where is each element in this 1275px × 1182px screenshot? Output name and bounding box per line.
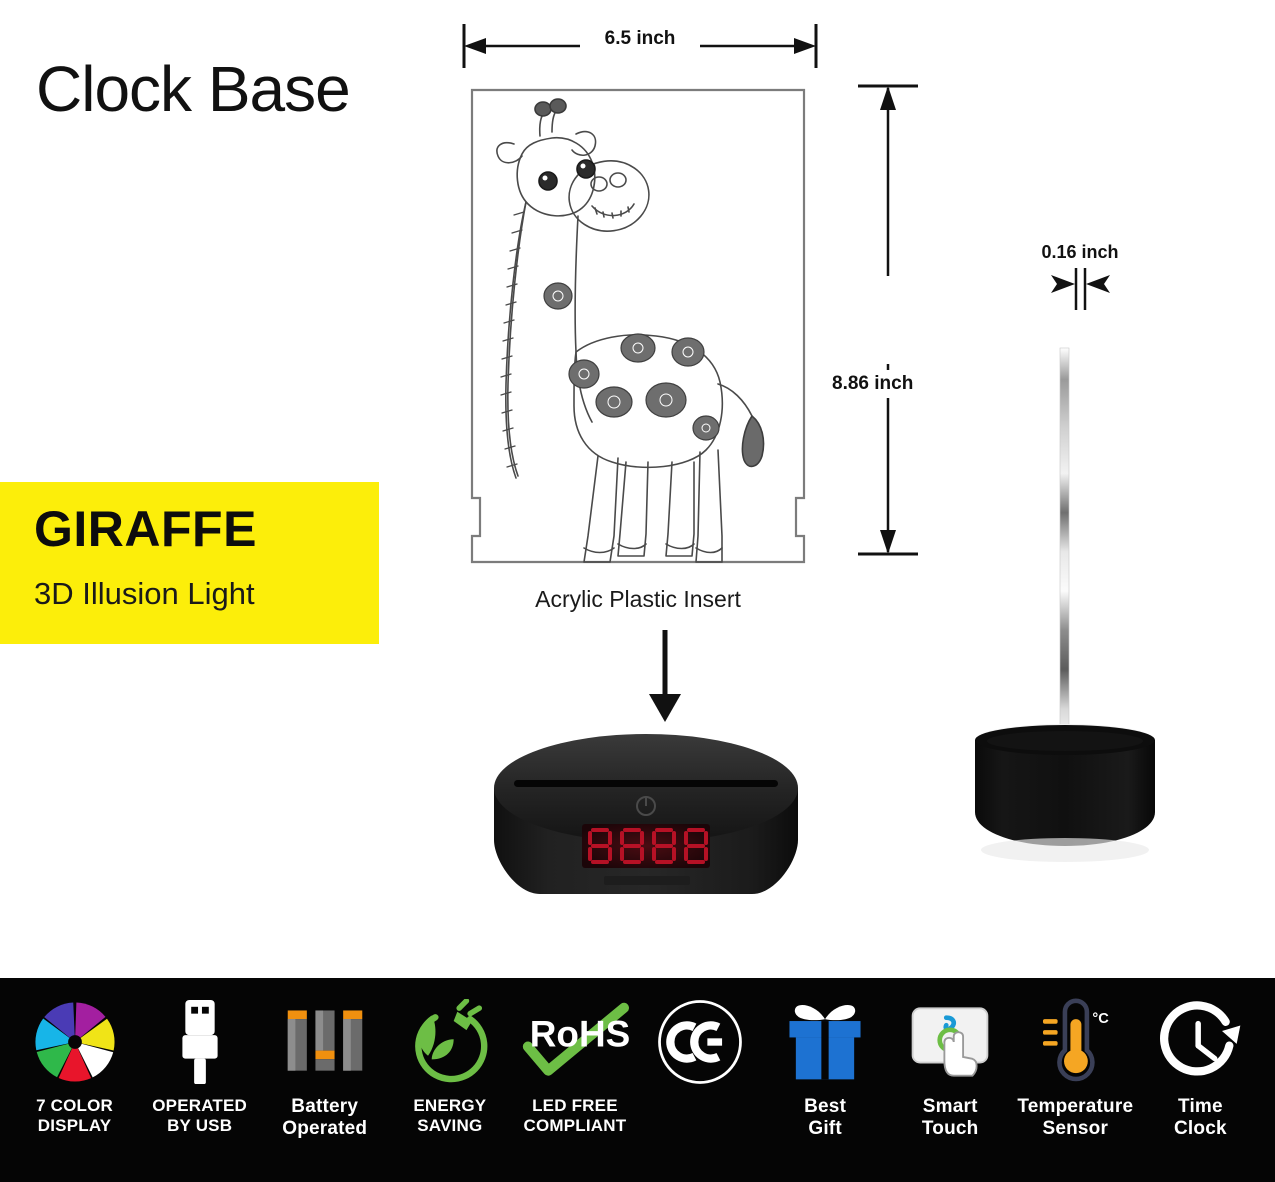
thickness-dimension: 0.16 inch [1015,242,1145,312]
height-dimension-arrow [840,80,950,560]
rohs-text: RoHS [530,1014,630,1055]
gift-box-icon [784,994,866,1090]
acrylic-panel-outline [466,84,810,568]
thermometer-icon: °C [1032,994,1118,1090]
feature-smart-touch: Smart Touch [888,994,1013,1182]
height-dimension-label: 8.86 inch [830,370,915,398]
ce-mark-icon [654,994,746,1090]
feature-label: Battery Operated [282,1096,367,1140]
feature-7-color-display: 7 COLOR DISPLAY [12,994,137,1182]
feature-temperature-sensor: °C Temperature Sensor [1013,994,1138,1182]
feature-ce-mark [637,994,762,1182]
feature-label: Best Gift [804,1096,846,1140]
feature-icons-bar: 7 COLOR DISPLAY OPERATED BY USB [0,978,1275,1182]
acrylic-insert-panel [466,84,810,568]
feature-time-clock: Time Clock [1138,994,1263,1182]
feature-label: Smart Touch [922,1096,979,1140]
badge-product-name: GIRAFFE [34,504,379,554]
feature-label: Temperature Sensor [1017,1096,1133,1140]
page-title: Clock Base [36,52,350,126]
clock-base-unit-front [476,722,816,912]
feature-label: Time Clock [1174,1096,1227,1140]
width-dimension: 6.5 inch [460,20,820,72]
height-dimension: 8.86 inch [840,80,950,560]
rohs-check-icon: RoHS [515,994,635,1090]
batteries-icon [282,994,368,1090]
product-infographic: Clock Base GIRAFFE 3D Illusion Light 6.5… [0,0,1275,1182]
clock-base-unit-side [960,330,1170,930]
down-arrow-icon [620,628,710,724]
badge-subtitle: 3D Illusion Light [34,576,379,612]
feature-label: OPERATED BY USB [152,1096,247,1135]
feature-rohs-compliant: RoHS LED FREE COMPLIANT [512,994,637,1182]
feature-energy-saving: ENERGY SAVING [387,994,512,1182]
width-dimension-label: 6.5 inch [580,28,700,50]
thickness-dimension-label: 0.16 inch [1015,242,1145,263]
feature-battery-operated: Battery Operated [262,994,387,1182]
celsius-text: °C [1093,1011,1110,1027]
feature-best-gift: Best Gift [763,994,888,1182]
feature-usb-operated: OPERATED BY USB [137,994,262,1182]
clock-arrow-icon [1154,994,1246,1090]
feature-label: 7 COLOR DISPLAY [36,1096,113,1135]
usb-plug-icon [170,994,230,1090]
side-view-graphic [960,330,1170,930]
insert-direction-arrow [620,628,710,724]
product-name-badge: GIRAFFE 3D Illusion Light [0,482,379,644]
smart-touch-icon [905,994,995,1090]
insert-caption: Acrylic Plastic Insert [466,586,810,613]
feature-label: ENERGY SAVING [413,1096,486,1135]
color-wheel-icon [32,994,118,1090]
thickness-dimension-arrow [1015,266,1145,310]
clock-base-graphic [476,722,816,912]
feature-label: LED FREE COMPLIANT [523,1096,626,1135]
leaf-plug-icon [404,994,496,1090]
